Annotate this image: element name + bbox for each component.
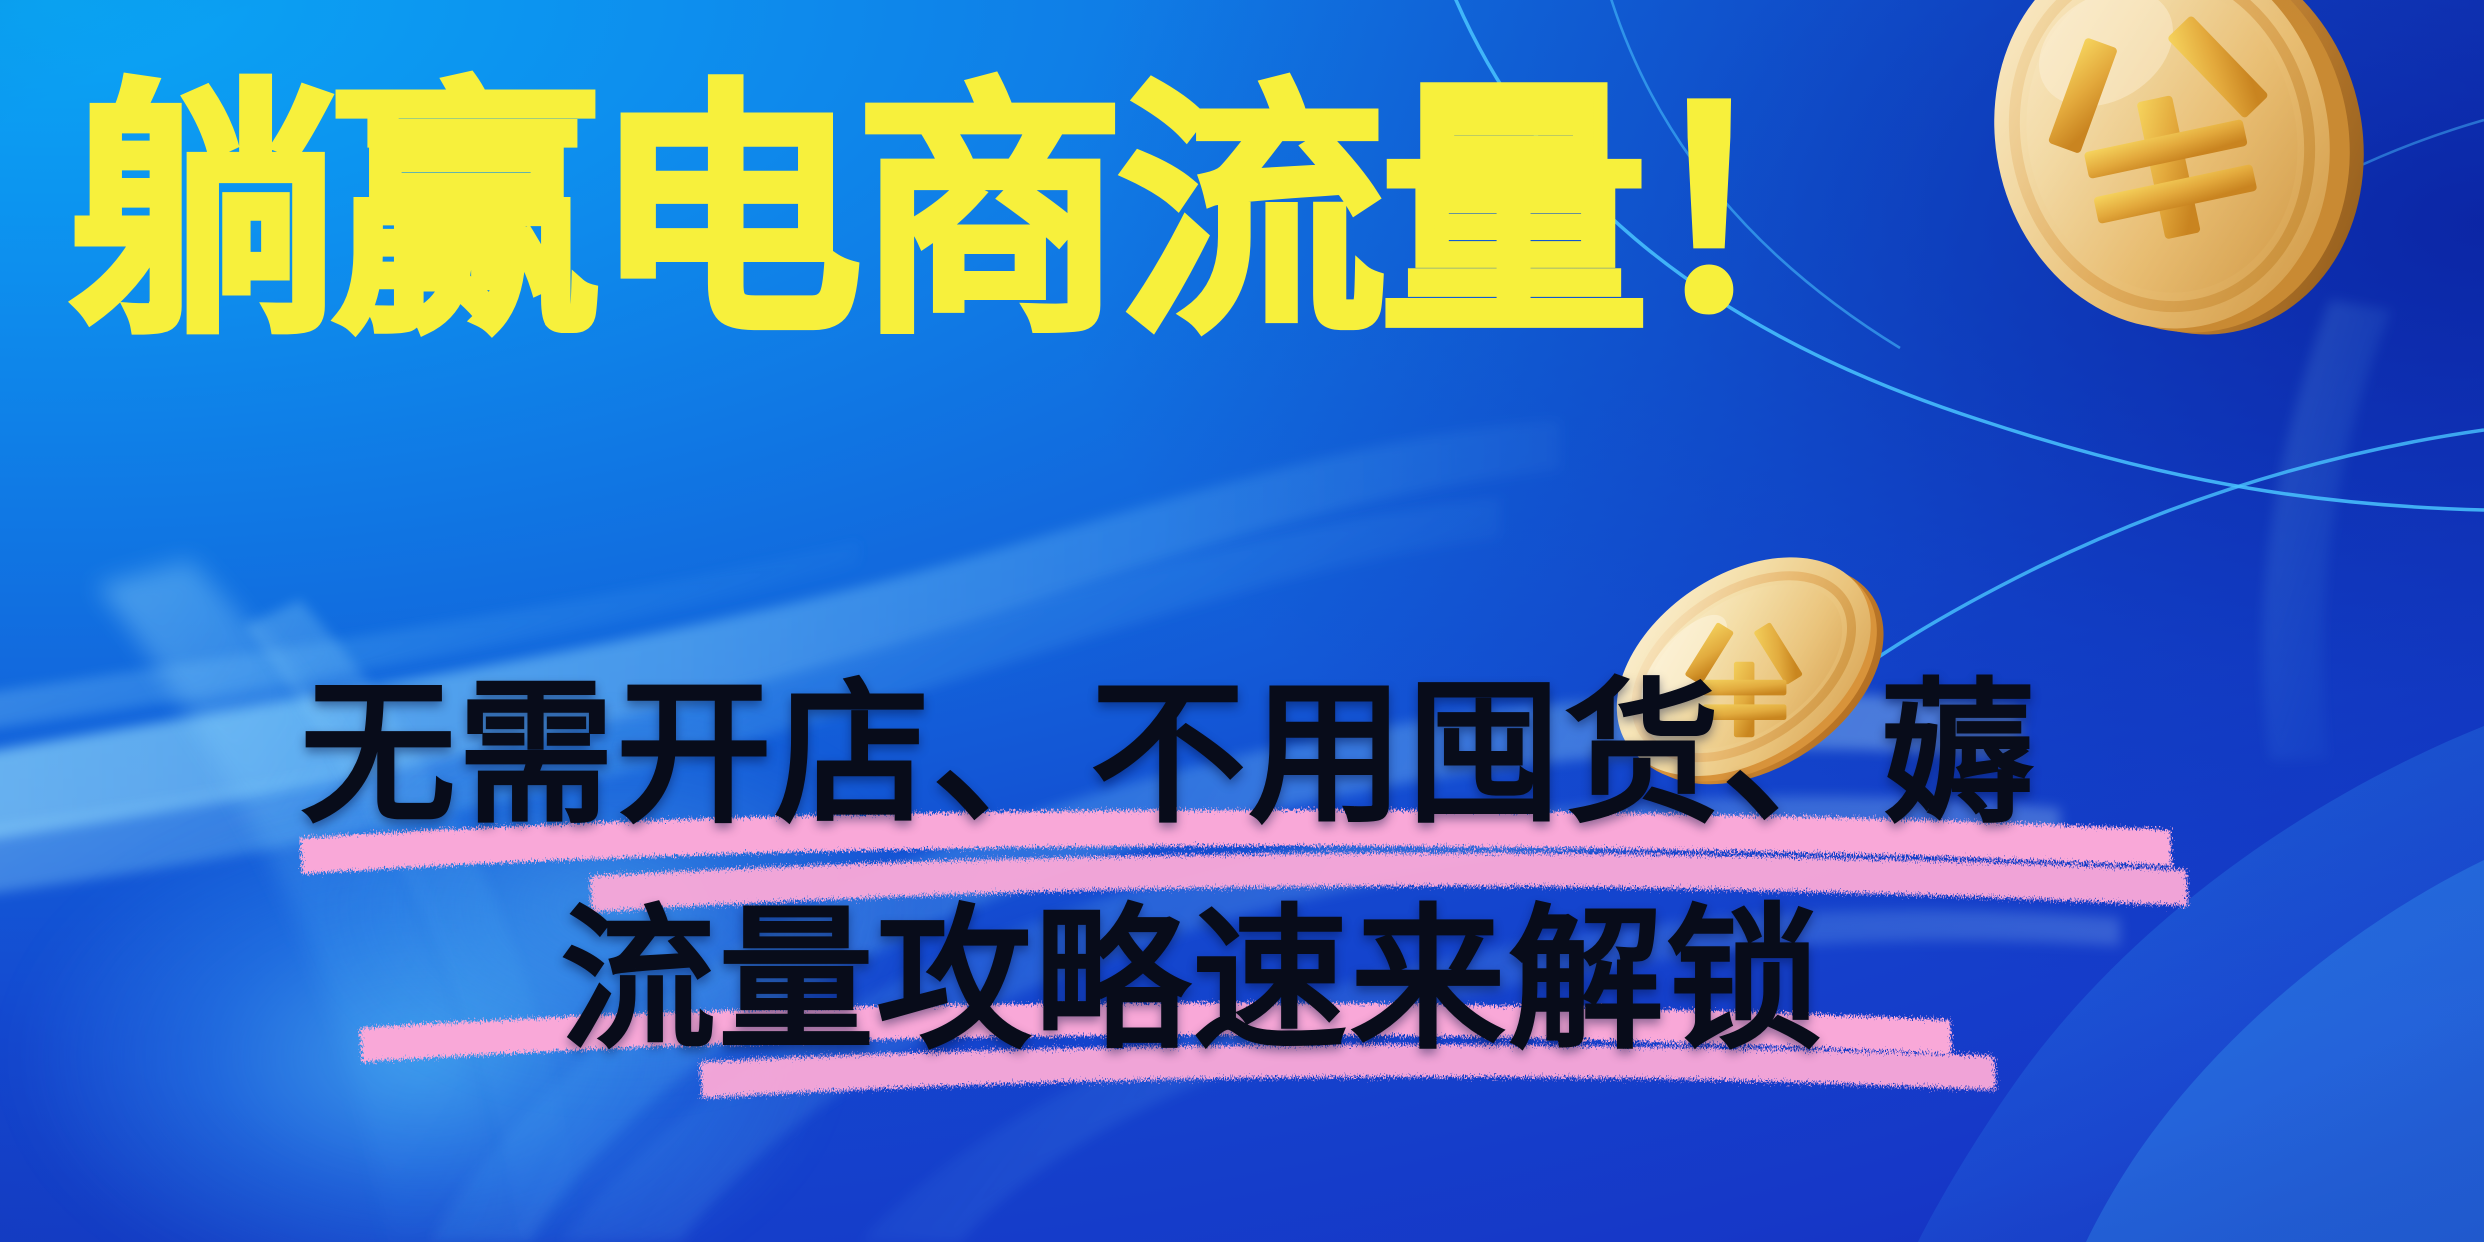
promo-banner: 躺赢电商流量！ 无需开店、不用囤货、薅 流量攻略速来解锁 — [0, 0, 2484, 1242]
background-vignette — [0, 0, 2484, 1242]
